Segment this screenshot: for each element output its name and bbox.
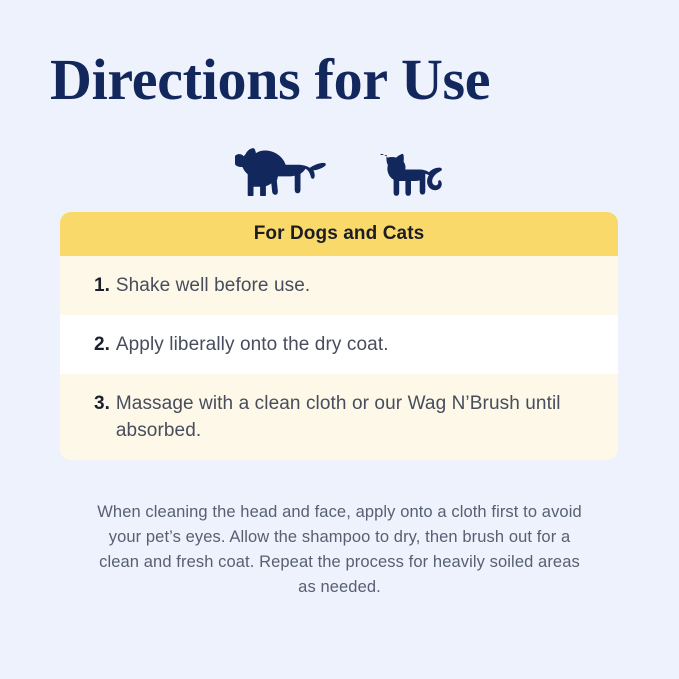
cat-silhouette-icon	[371, 152, 445, 196]
pet-icon-group	[0, 136, 679, 196]
list-item: 1. Shake well before use.	[60, 256, 618, 315]
card-header: For Dogs and Cats	[60, 212, 618, 256]
dog-silhouette-icon	[235, 144, 327, 196]
list-item: 3. Massage with a clean cloth or our Wag…	[60, 374, 618, 460]
step-number: 3.	[94, 390, 110, 417]
list-item: 2. Apply liberally onto the dry coat.	[60, 315, 618, 374]
steps-list: 1. Shake well before use. 2. Apply liber…	[60, 256, 618, 460]
footer-note: When cleaning the head and face, apply o…	[89, 500, 590, 600]
directions-for-use-page: Directions for Use For Dogs and Cats 1. …	[0, 0, 679, 679]
step-text: Apply liberally onto the dry coat.	[116, 331, 586, 358]
directions-card: For Dogs and Cats 1. Shake well before u…	[60, 212, 618, 460]
step-number: 1.	[94, 272, 110, 299]
page-title: Directions for Use	[50, 46, 490, 114]
step-number: 2.	[94, 331, 110, 358]
step-text: Massage with a clean cloth or our Wag N’…	[116, 390, 586, 444]
step-text: Shake well before use.	[116, 272, 586, 299]
